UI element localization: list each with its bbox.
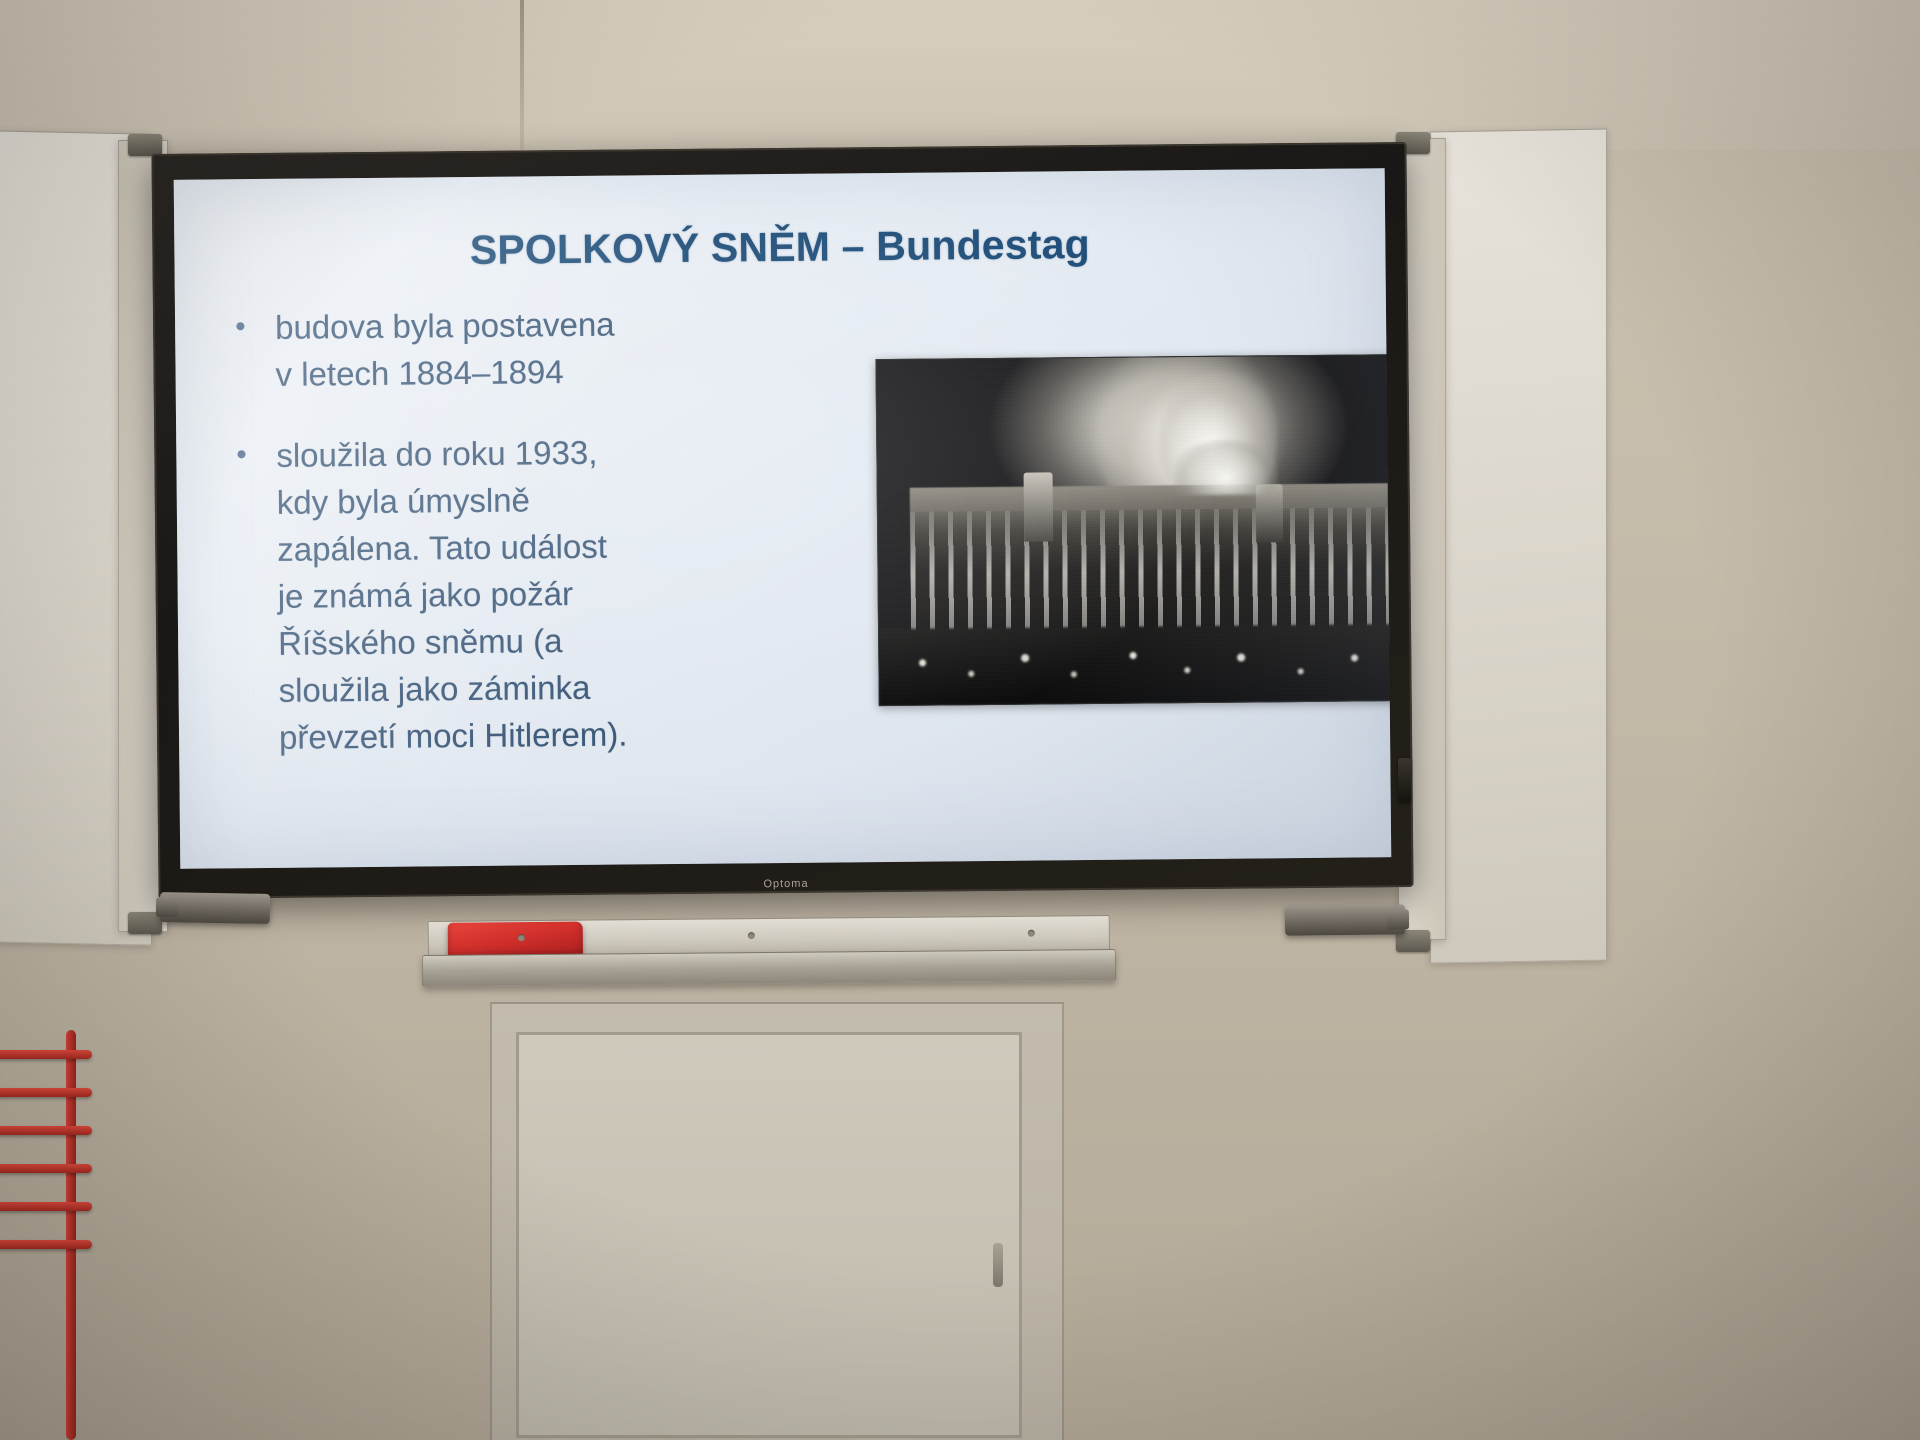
optoma-brand-label: Optoma bbox=[763, 878, 808, 890]
bullet-line: budova byla postavena bbox=[275, 301, 615, 351]
bullet-text-1: budova byla postavena v letech 1884–1894 bbox=[275, 301, 615, 398]
tray-screw bbox=[1028, 930, 1035, 937]
pen-tray[interactable] bbox=[428, 915, 1109, 999]
bullet-line: v letech 1884–1894 bbox=[275, 348, 615, 398]
bullet-text-2: sloužila do roku 1933, kdy byla úmyslně … bbox=[276, 429, 628, 761]
right-whiteboard-wing bbox=[1430, 128, 1607, 963]
stylus-dock-nub[interactable] bbox=[1398, 758, 1411, 802]
reichstag-fire-photo bbox=[875, 354, 1391, 706]
chair-rack bbox=[0, 1030, 97, 1440]
cabinet-handle[interactable] bbox=[993, 1243, 1003, 1287]
chair-rack-bar bbox=[0, 1240, 92, 1249]
photo-burning-dome bbox=[1174, 439, 1277, 495]
wing-clip-top-left bbox=[128, 134, 162, 156]
bullet-line: sloužila jako záminka bbox=[278, 664, 627, 714]
photo-corner-tower-left bbox=[1023, 472, 1053, 541]
wall-upper-strip bbox=[0, 0, 1920, 150]
chair-rack-bar bbox=[0, 1202, 92, 1211]
interactive-whiteboard[interactable]: SPOLKOVÝ SNĚM – Bundestag • budova byla … bbox=[151, 142, 1413, 899]
bullet-line: sloužila do roku 1933, bbox=[276, 429, 625, 479]
slide-title: SPOLKOVÝ SNĚM – Bundestag bbox=[208, 219, 1351, 277]
tray-screw bbox=[748, 932, 755, 939]
bullet-line: zapálena. Tato událost bbox=[277, 523, 626, 573]
photo-crowd bbox=[879, 624, 1391, 705]
cabinet[interactable] bbox=[490, 1002, 1064, 1440]
projection-screen[interactable]: SPOLKOVÝ SNĚM – Bundestag • budova byla … bbox=[174, 168, 1392, 869]
tray-screw bbox=[518, 934, 525, 941]
chair-rack-bar bbox=[0, 1164, 92, 1173]
chair-rack-bar bbox=[0, 1050, 92, 1059]
bullet-line: Říšského sněmu (a bbox=[278, 617, 627, 667]
presentation-slide: SPOLKOVÝ SNĚM – Bundestag • budova byla … bbox=[174, 168, 1392, 869]
bullet-line: převzetí moci Hitlerem). bbox=[279, 710, 628, 760]
board-mount-knob-right bbox=[1387, 909, 1409, 929]
board-mount-arm-left bbox=[160, 892, 271, 924]
board-mount-arm-right bbox=[1285, 904, 1405, 935]
bullet-marker-icon: • bbox=[228, 432, 279, 761]
wall-seam bbox=[520, 0, 524, 150]
chair-rack-bar bbox=[0, 1088, 92, 1097]
pen-tray-lip bbox=[422, 949, 1116, 987]
board-mount-knob-left bbox=[156, 897, 178, 917]
bullet-line: kdy byla úmyslně bbox=[277, 476, 626, 526]
chair-rack-bar bbox=[0, 1126, 92, 1135]
bullet-item-1: • budova byla postavena v letech 1884–18… bbox=[227, 299, 748, 398]
classroom-scene: SPOLKOVÝ SNĚM – Bundestag • budova byla … bbox=[0, 0, 1920, 1440]
cabinet-door[interactable] bbox=[516, 1032, 1022, 1438]
bullet-marker-icon: • bbox=[227, 304, 276, 398]
bullet-list: • budova byla postavena v letech 1884–18… bbox=[209, 299, 752, 795]
bullet-line: je známá jako požár bbox=[277, 570, 626, 620]
bullet-item-2: • sloužila do roku 1933, kdy byla úmysln… bbox=[228, 427, 751, 761]
